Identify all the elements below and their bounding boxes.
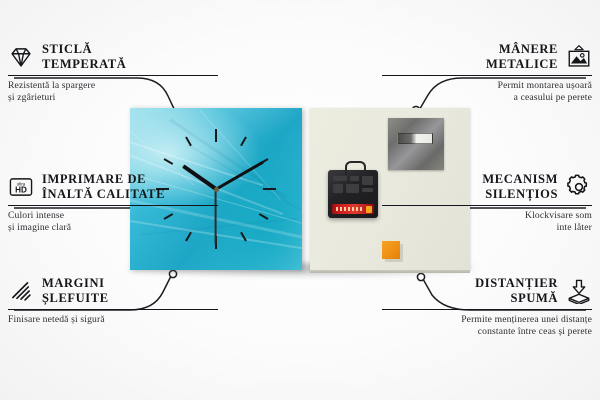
feature-title-line: SILENȚIOS [482, 187, 558, 202]
gear-icon [566, 174, 592, 200]
feature-title-line: ȘLEFUITE [42, 291, 109, 306]
feature-heading: DISTANȚIER SPUMĂ [382, 276, 592, 306]
feature-divider [382, 205, 592, 207]
diagonal-lines-icon [8, 278, 34, 304]
clock-tick [164, 158, 174, 165]
feature-tempered-glass: STICLĂ TEMPERATĂ Rezistentă la spargere … [8, 42, 218, 105]
feature-subtitle-line: Permite menținerea unei distanțe [382, 314, 592, 326]
arrow-onto-foam-icon [566, 278, 592, 304]
feature-subtitle-line: Klockvisare som [382, 210, 592, 222]
feature-foam-spacer: DISTANȚIER SPUMĂ Permite menținerea unei… [382, 276, 592, 339]
feature-title: IMPRIMARE DE ÎNALTĂ CALITATE [42, 172, 165, 202]
feature-title: MÂNERE METALICE [486, 42, 558, 72]
feature-title-line: MARGINI [42, 276, 109, 291]
clock-minute-hand [215, 161, 263, 191]
feature-title-line: DISTANȚIER [475, 276, 558, 291]
feature-title-line: MÂNERE [486, 42, 558, 57]
feature-title-line: STICLĂ [42, 42, 126, 57]
feature-subtitle: Finisare netedă și sigură [8, 314, 218, 326]
feature-subtitle: Klockvisare som inte låter [382, 210, 592, 235]
feature-title-line: METALICE [486, 57, 558, 72]
hanging-picture-icon [566, 44, 592, 70]
ultra-hd-icon-large-text: HD [15, 185, 27, 194]
feature-subtitle-line: constante între ceas și perete [382, 326, 592, 338]
feature-heading: MARGINI ȘLEFUITE [8, 276, 218, 306]
feature-title: STICLĂ TEMPERATĂ [42, 42, 126, 72]
feature-divider [8, 205, 218, 207]
feature-subtitle: Rezistentă la spargere și zgârieturi [8, 80, 218, 105]
ultra-hd-icon: ultra HD [8, 174, 34, 200]
clock-tick [259, 213, 269, 220]
mechanism-hanging-loop [345, 161, 366, 175]
feature-divider [8, 75, 218, 77]
infographic-canvas: STICLĂ TEMPERATĂ Rezistentă la spargere … [0, 0, 600, 400]
clock-tick [185, 137, 192, 147]
battery-positive-terminal [366, 206, 372, 213]
feature-heading: ultra HD IMPRIMARE DE ÎNALTĂ CALITATE [8, 172, 218, 202]
feature-subtitle-line: și imagine clară [8, 222, 218, 234]
feature-divider [382, 75, 592, 77]
feature-divider [8, 309, 218, 311]
feature-metal-handles: MÂNERE METALICE Permit montarea ușoară a… [382, 42, 592, 105]
feature-subtitle: Permit montarea ușoară a ceasului pe per… [382, 80, 592, 105]
feature-subtitle-line: inte låter [382, 222, 592, 234]
feature-heading: MÂNERE METALICE [382, 42, 592, 72]
feature-polished-edges: MARGINI ȘLEFUITE Finisare netedă și sigu… [8, 276, 218, 326]
clock-tick [240, 232, 247, 242]
diamond-icon [8, 44, 34, 70]
feature-subtitle: Culori intense și imagine clară [8, 210, 218, 235]
feature-subtitle-line: a ceasului pe perete [382, 92, 592, 104]
feature-subtitle: Permite menținerea unei distanțe constan… [382, 314, 592, 339]
feature-title-line: TEMPERATĂ [42, 57, 126, 72]
feature-title: DISTANȚIER SPUMĂ [475, 276, 558, 306]
feature-subtitle-line: Finisare netedă și sigură [8, 314, 218, 326]
feature-subtitle-line: Culori intense [8, 210, 218, 222]
feature-heading: MECANISM SILENȚIOS [382, 172, 592, 202]
aa-battery [332, 204, 374, 214]
mechanism-housing-detail [333, 176, 373, 196]
hanger-keyhole-slot [397, 133, 433, 144]
feature-divider [382, 309, 592, 311]
foam-spacer-pad [382, 241, 400, 259]
feature-heading: STICLĂ TEMPERATĂ [8, 42, 218, 72]
clock-tick [215, 129, 217, 142]
feature-title: MARGINI ȘLEFUITE [42, 276, 109, 306]
clock-tick [240, 137, 247, 147]
feature-title-line: SPUMĂ [475, 291, 558, 306]
clock-mechanism [328, 170, 378, 218]
battery-label-print [336, 207, 362, 211]
feature-title: MECANISM SILENȚIOS [482, 172, 558, 202]
metal-hanger-plate [388, 118, 444, 170]
feature-subtitle-line: Rezistentă la spargere [8, 80, 218, 92]
feature-title-line: IMPRIMARE DE [42, 172, 165, 187]
feature-high-quality-print: ultra HD IMPRIMARE DE ÎNALTĂ CALITATE Cu… [8, 172, 218, 235]
feature-subtitle-line: și zgârieturi [8, 92, 218, 104]
clock-tick [263, 188, 276, 190]
feature-silent-mechanism: MECANISM SILENȚIOS Klockvisare som inte … [382, 172, 592, 235]
feature-title-line: ÎNALTĂ CALITATE [42, 187, 165, 202]
feature-title-line: MECANISM [482, 172, 558, 187]
feature-subtitle-line: Permit montarea ușoară [382, 80, 592, 92]
